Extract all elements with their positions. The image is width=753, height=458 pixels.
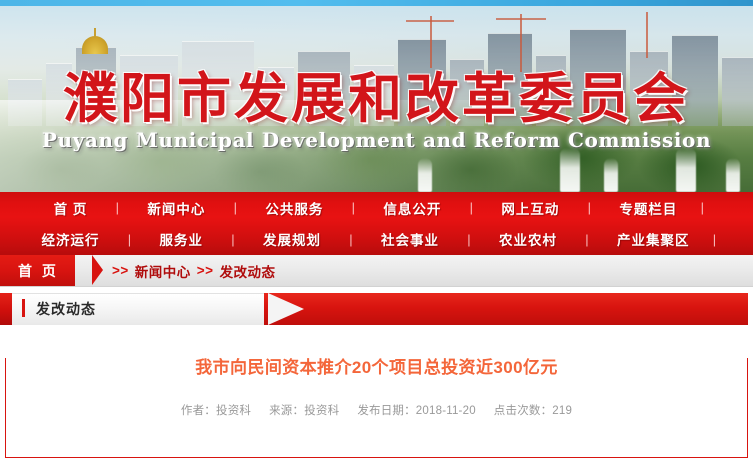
breadcrumb-arrow-icon <box>92 255 103 285</box>
nav-separator: | <box>692 232 738 247</box>
site-banner: 濮阳市发展和改革委员会 Puyang Municipal Development… <box>0 0 753 192</box>
nav-item-public-service[interactable]: 公共服务 <box>263 198 325 218</box>
dome-icon <box>82 36 108 54</box>
nav-separator: | <box>207 200 263 215</box>
nav-separator: | <box>325 200 381 215</box>
nav-item-agriculture-rural[interactable]: 农业农村 <box>497 229 559 249</box>
article-container: 我市向民间资本推介20个项目总投资近300亿元 作者：投资科 来源：投资科 发布… <box>5 358 748 458</box>
nav-row-primary: 首 页 | 新闻中心 | 公共服务 | 信息公开 | 网上互动 | 专题栏目 | <box>0 192 753 223</box>
nav-item-economic-operation[interactable]: 经济运行 <box>40 229 102 249</box>
breadcrumb-separator: >> <box>112 263 129 278</box>
fountain-icon <box>418 158 432 192</box>
breadcrumb-home[interactable]: 首 页 <box>0 255 75 286</box>
article-source: 来源：投资科 <box>269 402 339 418</box>
nav-separator: | <box>205 232 261 247</box>
nav-item-social-undertakings[interactable]: 社会事业 <box>379 229 441 249</box>
nav-item-online-interaction[interactable]: 网上互动 <box>499 198 561 218</box>
article-meta: 作者：投资科 来源：投资科 发布日期：2018-11-20 点击次数：219 <box>6 402 747 418</box>
nav-separator: | <box>323 232 379 247</box>
nav-separator: | <box>559 232 615 247</box>
section-left-cap <box>0 293 12 325</box>
breadcrumb-separator: >> <box>197 263 214 278</box>
nav-item-development-planning[interactable]: 发展规划 <box>261 229 323 249</box>
section-arrow-icon <box>268 293 304 325</box>
site-title-cn: 濮阳市发展和改革委员会 <box>0 54 753 133</box>
fountain-icon <box>726 158 740 192</box>
nav-separator: | <box>443 200 499 215</box>
site-title-en: Puyang Municipal Development and Reform … <box>0 128 753 152</box>
nav-row-secondary: 经济运行 | 服务业 | 发展规划 | 社会事业 | 农业农村 | 产业集聚区 … <box>0 223 753 255</box>
article-author: 作者：投资科 <box>181 402 251 418</box>
section-red-bar <box>264 293 748 325</box>
article-view-count: 点击次数：219 <box>494 402 572 418</box>
nav-separator: | <box>89 200 145 215</box>
nav-separator: | <box>102 232 158 247</box>
fountain-icon <box>676 148 696 192</box>
page-root: 濮阳市发展和改革委员会 Puyang Municipal Development… <box>0 0 753 436</box>
section-header: 发改动态 <box>0 292 753 330</box>
fountain-icon <box>560 148 580 192</box>
nav-separator: | <box>441 232 497 247</box>
article-publish-date: 发布日期：2018-11-20 <box>357 402 475 418</box>
section-ticker-icon <box>22 299 25 317</box>
nav-separator: | <box>561 200 617 215</box>
nav-item-news[interactable]: 新闻中心 <box>145 198 207 218</box>
section-title: 发改动态 <box>36 292 96 326</box>
nav-separator: | <box>679 200 725 215</box>
breadcrumb: 首 页 >> 新闻中心 >> 发改动态 <box>0 255 753 287</box>
nav-item-special-topics[interactable]: 专题栏目 <box>617 198 679 218</box>
main-navigation: 首 页 | 新闻中心 | 公共服务 | 信息公开 | 网上互动 | 专题栏目 |… <box>0 192 753 255</box>
fountain-icon <box>604 158 618 192</box>
breadcrumb-item-news[interactable]: 新闻中心 <box>135 261 191 281</box>
nav-item-home[interactable]: 首 页 <box>52 198 90 218</box>
nav-item-industrial-cluster[interactable]: 产业集聚区 <box>615 229 692 249</box>
nav-item-info-disclosure[interactable]: 信息公开 <box>381 198 443 218</box>
breadcrumb-item-current[interactable]: 发改动态 <box>220 261 276 281</box>
breadcrumb-trail: >> 新闻中心 >> 发改动态 <box>112 255 276 286</box>
nav-item-service-industry[interactable]: 服务业 <box>158 229 206 249</box>
article-title: 我市向民间资本推介20个项目总投资近300亿元 <box>6 358 747 378</box>
